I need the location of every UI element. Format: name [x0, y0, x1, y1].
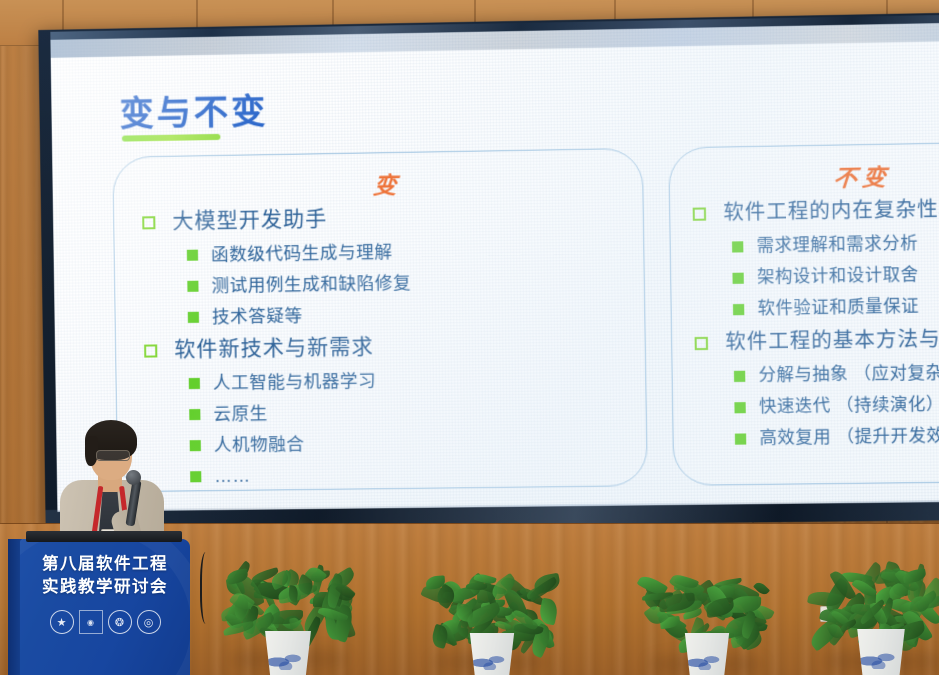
bullet-text: 需求理解和需求分析 — [756, 228, 918, 261]
plant-pot — [465, 633, 519, 675]
microphone-head — [126, 470, 141, 485]
presentation-slide: 变与不变 变 大模型开发助手函数级代码生成与理解测试用例生成和缺陷修复技术答疑等… — [50, 23, 939, 512]
hollow-square-bullet-icon — [142, 216, 155, 229]
bullet-item-level2: 人工智能与机器学习 — [189, 362, 646, 398]
presenter-speaker — [52, 414, 182, 546]
potted-plant — [428, 566, 556, 675]
bullet-list-unchanged: 软件工程的内在复杂性和可需求理解和需求分析架构设计和设计取舍软件验证和质量保证软… — [670, 190, 939, 456]
bullet-text: 软件验证和质量保证 — [757, 291, 919, 324]
bullet-item-level1: 软件新技术与新需求 — [144, 327, 645, 368]
slide-title: 变与不变 — [119, 84, 268, 136]
sponsor-logo-row: ★ ◉ ❂ ◎ — [20, 610, 190, 634]
bullet-text: 软件新技术与新需求 — [174, 330, 374, 367]
bullet-text: 人工智能与机器学习 — [213, 366, 377, 398]
plant-pot — [260, 631, 316, 675]
bullet-text: 快速迭代 （持续演化） — [759, 389, 939, 422]
bullet-item-level2: 架构设计和设计取舍 — [732, 257, 939, 293]
filled-square-bullet-icon — [732, 272, 743, 283]
plant-pot — [680, 633, 734, 675]
bullet-text: 架构设计和设计取舍 — [757, 260, 919, 293]
banner-line-1: 第八届软件工程 — [20, 553, 190, 576]
pot-pattern — [473, 652, 512, 670]
podium-top-surface — [26, 531, 182, 542]
bullet-item-level2: 云原生 — [189, 393, 646, 429]
hollow-square-bullet-icon — [144, 344, 157, 357]
bullet-item-level2: 人机物融合 — [190, 425, 647, 461]
banner-text-block: 第八届软件工程 实践教学研讨会 — [20, 553, 190, 599]
university-seal-star-icon: ★ — [50, 610, 74, 634]
bullet-text: 分解与抽象 （应对复杂问题 — [758, 357, 939, 390]
filled-square-bullet-icon — [188, 311, 199, 322]
filled-square-bullet-icon — [190, 440, 201, 451]
floor-cable — [200, 552, 214, 624]
bullet-item-level1: 软件工程的内在复杂性和可 — [692, 190, 939, 231]
panel-unchanged: 不变 软件工程的内在复杂性和可需求理解和需求分析架构设计和设计取舍软件验证和质量… — [668, 140, 939, 486]
podium-banner: 第八届软件工程 实践教学研讨会 ★ ◉ ❂ ◎ — [20, 539, 190, 675]
bullet-text: 技术答疑等 — [212, 300, 303, 331]
bullet-item-level2: 技术答疑等 — [188, 295, 645, 332]
bullet-text: 函数级代码生成与理解 — [211, 237, 393, 270]
university-seal-ring-icon: ◎ — [137, 610, 161, 634]
plant-foliage — [222, 560, 354, 643]
university-seal-classic-icon: ❂ — [108, 610, 132, 634]
panel-change: 变 大模型开发助手函数级代码生成与理解测试用例生成和缺陷修复技术答疑等软件新技术… — [112, 148, 648, 492]
bullet-text: 软件工程的内在复杂性和可 — [723, 192, 939, 231]
bullet-item-level1: 软件工程的基本方法与技术 — [694, 320, 939, 360]
panel-heading-change: 变 — [372, 166, 403, 201]
plant-pot — [852, 629, 910, 675]
pot-pattern — [860, 649, 902, 669]
conference-room-photo: 变与不变 变 大模型开发助手函数级代码生成与理解测试用例生成和缺陷修复技术答疑等… — [0, 0, 939, 675]
filled-square-bullet-icon — [187, 249, 198, 260]
bullet-item-level2: 快速迭代 （持续演化） — [734, 387, 939, 422]
pot-pattern — [688, 652, 727, 670]
bullet-item-level2: 需求理解和需求分析 — [732, 226, 939, 262]
bullet-list-change: 大模型开发助手函数级代码生成与理解测试用例生成和缺陷修复技术答疑等软件新技术与新… — [114, 197, 647, 493]
filled-square-bullet-icon — [734, 402, 745, 413]
banner-line-2: 实践教学研讨会 — [20, 576, 190, 599]
pot-pattern — [268, 650, 308, 669]
presenter-glasses — [96, 450, 130, 461]
filled-square-bullet-icon — [735, 433, 746, 444]
bullet-text: 云原生 — [213, 398, 268, 429]
lectern-podium: 第八届软件工程 实践教学研讨会 ★ ◉ ❂ ◎ — [8, 531, 190, 675]
bullet-item-level2: 高效复用 （提升开发效能） — [735, 419, 939, 454]
filled-square-bullet-icon — [734, 370, 745, 381]
university-seal-tower-icon: ◉ — [79, 610, 103, 634]
plant-foliage — [428, 566, 556, 644]
filled-square-bullet-icon — [733, 303, 744, 314]
bullet-item-level2: 分解与抽象 （应对复杂问题 — [734, 356, 939, 391]
bullet-text: 人机物融合 — [214, 429, 305, 460]
panel-heading-unchanged: 不变 — [832, 158, 892, 193]
hollow-square-bullet-icon — [695, 336, 708, 349]
title-underline-accent — [122, 134, 220, 142]
bullet-text: 高效复用 （提升开发效能） — [759, 420, 939, 453]
bullet-item-level2: …… — [190, 456, 647, 491]
bullet-text: 大模型开发助手 — [172, 202, 327, 239]
bullet-text: 测试用例生成和缺陷修复 — [211, 267, 411, 300]
filled-square-bullet-icon — [189, 409, 200, 420]
potted-plant — [814, 560, 939, 675]
filled-square-bullet-icon — [187, 280, 198, 291]
bullet-item-level2: 软件验证和质量保证 — [733, 289, 939, 325]
bullet-text: 软件工程的基本方法与技术 — [725, 322, 939, 360]
filled-square-bullet-icon — [732, 241, 743, 252]
hollow-square-bullet-icon — [693, 207, 706, 220]
potted-plant — [222, 560, 354, 675]
filled-square-bullet-icon — [190, 471, 201, 482]
filled-square-bullet-icon — [189, 377, 200, 388]
potted-plant — [644, 570, 770, 675]
bullet-text: …… — [214, 461, 251, 492]
